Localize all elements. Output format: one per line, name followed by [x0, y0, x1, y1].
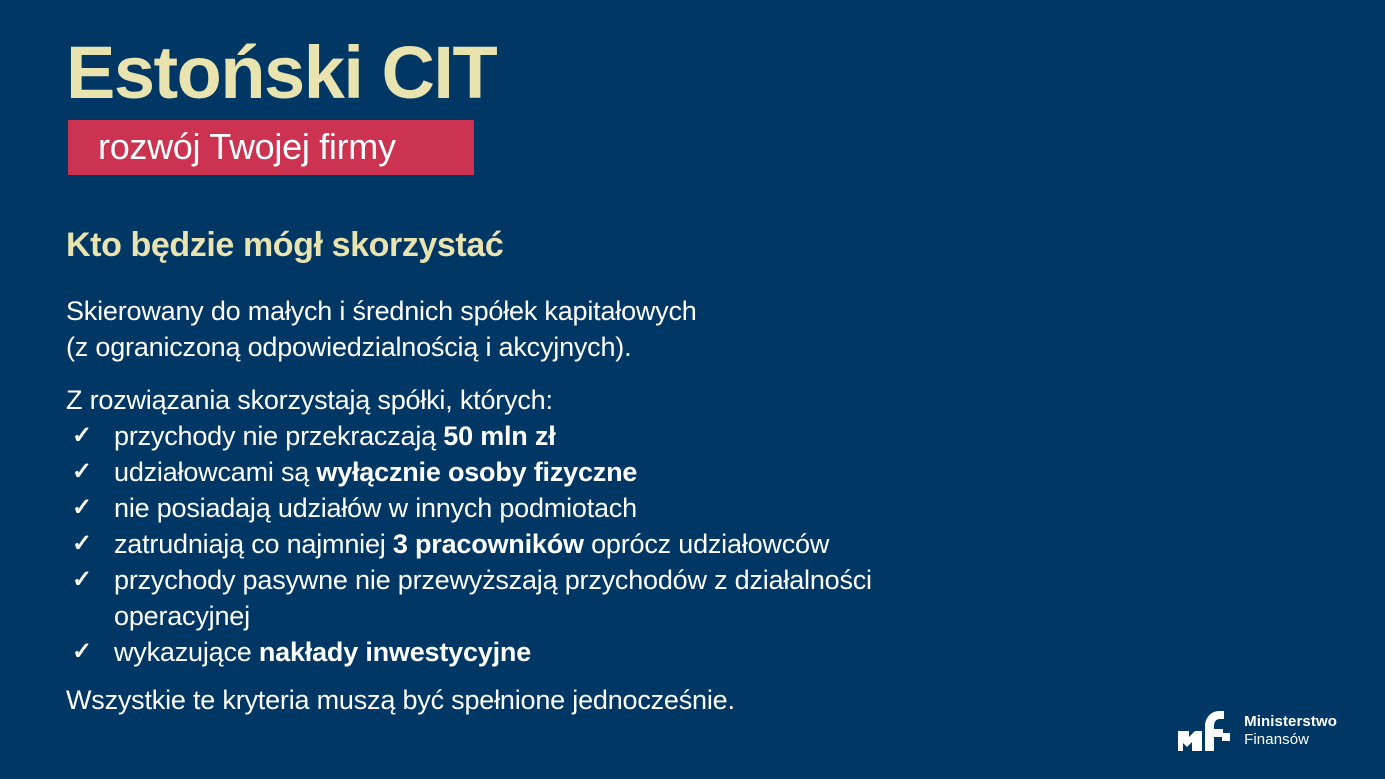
intro-line-1: Skierowany do małych i średnich spółek k… [66, 296, 697, 326]
ministry-name-line2: Finansów [1244, 731, 1337, 749]
ministry-logo: Ministerstwo Finansów [1178, 711, 1337, 751]
infographic-slide: 1 ZŁOT WARS 25 MA Estoński CIT rozwój Tw… [0, 0, 1385, 779]
list-item-emphasis: 3 pracowników [393, 529, 584, 559]
page-title: Estoński CIT [66, 36, 496, 110]
content-column: Estoński CIT rozwój Twojej firmy Kto będ… [0, 0, 1010, 779]
check-icon: ✓ [72, 418, 92, 454]
intro-paragraph: Skierowany do małych i średnich spółek k… [66, 293, 697, 365]
check-icon: ✓ [72, 634, 92, 670]
section-heading: Kto będzie mógł skorzystać [66, 226, 503, 265]
check-icon: ✓ [72, 526, 92, 562]
check-icon: ✓ [72, 562, 92, 598]
list-item: ✓wykazujące nakłady inwestycyjne [66, 634, 996, 670]
ministry-name-line1: Ministerstwo [1244, 713, 1337, 731]
list-item-emphasis: nakłady inwestycyjne [259, 637, 531, 667]
list-lead-in: Z rozwiązania skorzystają spółki, któryc… [66, 382, 553, 418]
list-item-text: przychody nie przekraczają [114, 421, 443, 451]
list-item: ✓udziałowcami są wyłącznie osoby fizyczn… [66, 454, 996, 490]
list-item-text: nie posiadają udziałów w innych podmiota… [114, 493, 637, 523]
list-item: ✓zatrudniają co najmniej 3 pracowników o… [66, 526, 996, 562]
list-item: ✓przychody pasywne nie przewyższają przy… [66, 562, 996, 634]
list-item-emphasis: 50 mln zł [443, 421, 555, 451]
mf-monogram-icon [1178, 711, 1232, 751]
subtitle-text: rozwój Twojej firmy [98, 126, 396, 168]
list-item-text: przychody pasywne nie przewyższają przyc… [114, 565, 872, 631]
ministry-logo-text: Ministerstwo Finansów [1244, 713, 1337, 748]
list-item-emphasis: wyłącznie osoby fizyczne [316, 457, 637, 487]
footnote-text: Wszystkie te kryteria muszą być spełnion… [66, 682, 735, 718]
criteria-list: ✓przychody nie przekraczają 50 mln zł✓ud… [66, 418, 996, 670]
list-item-text: udziałowcami są [114, 457, 316, 487]
check-icon: ✓ [72, 454, 92, 490]
check-icon: ✓ [72, 490, 92, 526]
subtitle-banner: rozwój Twojej firmy [68, 120, 474, 175]
list-item: ✓przychody nie przekraczają 50 mln zł [66, 418, 996, 454]
list-item: ✓nie posiadają udziałów w innych podmiot… [66, 490, 996, 526]
list-item-text-tail: oprócz udziałowców [584, 529, 829, 559]
intro-line-2: (z ograniczoną odpowiedzialnością i akcy… [66, 332, 631, 362]
list-item-text: wykazujące [114, 637, 259, 667]
list-item-text: zatrudniają co najmniej [114, 529, 393, 559]
